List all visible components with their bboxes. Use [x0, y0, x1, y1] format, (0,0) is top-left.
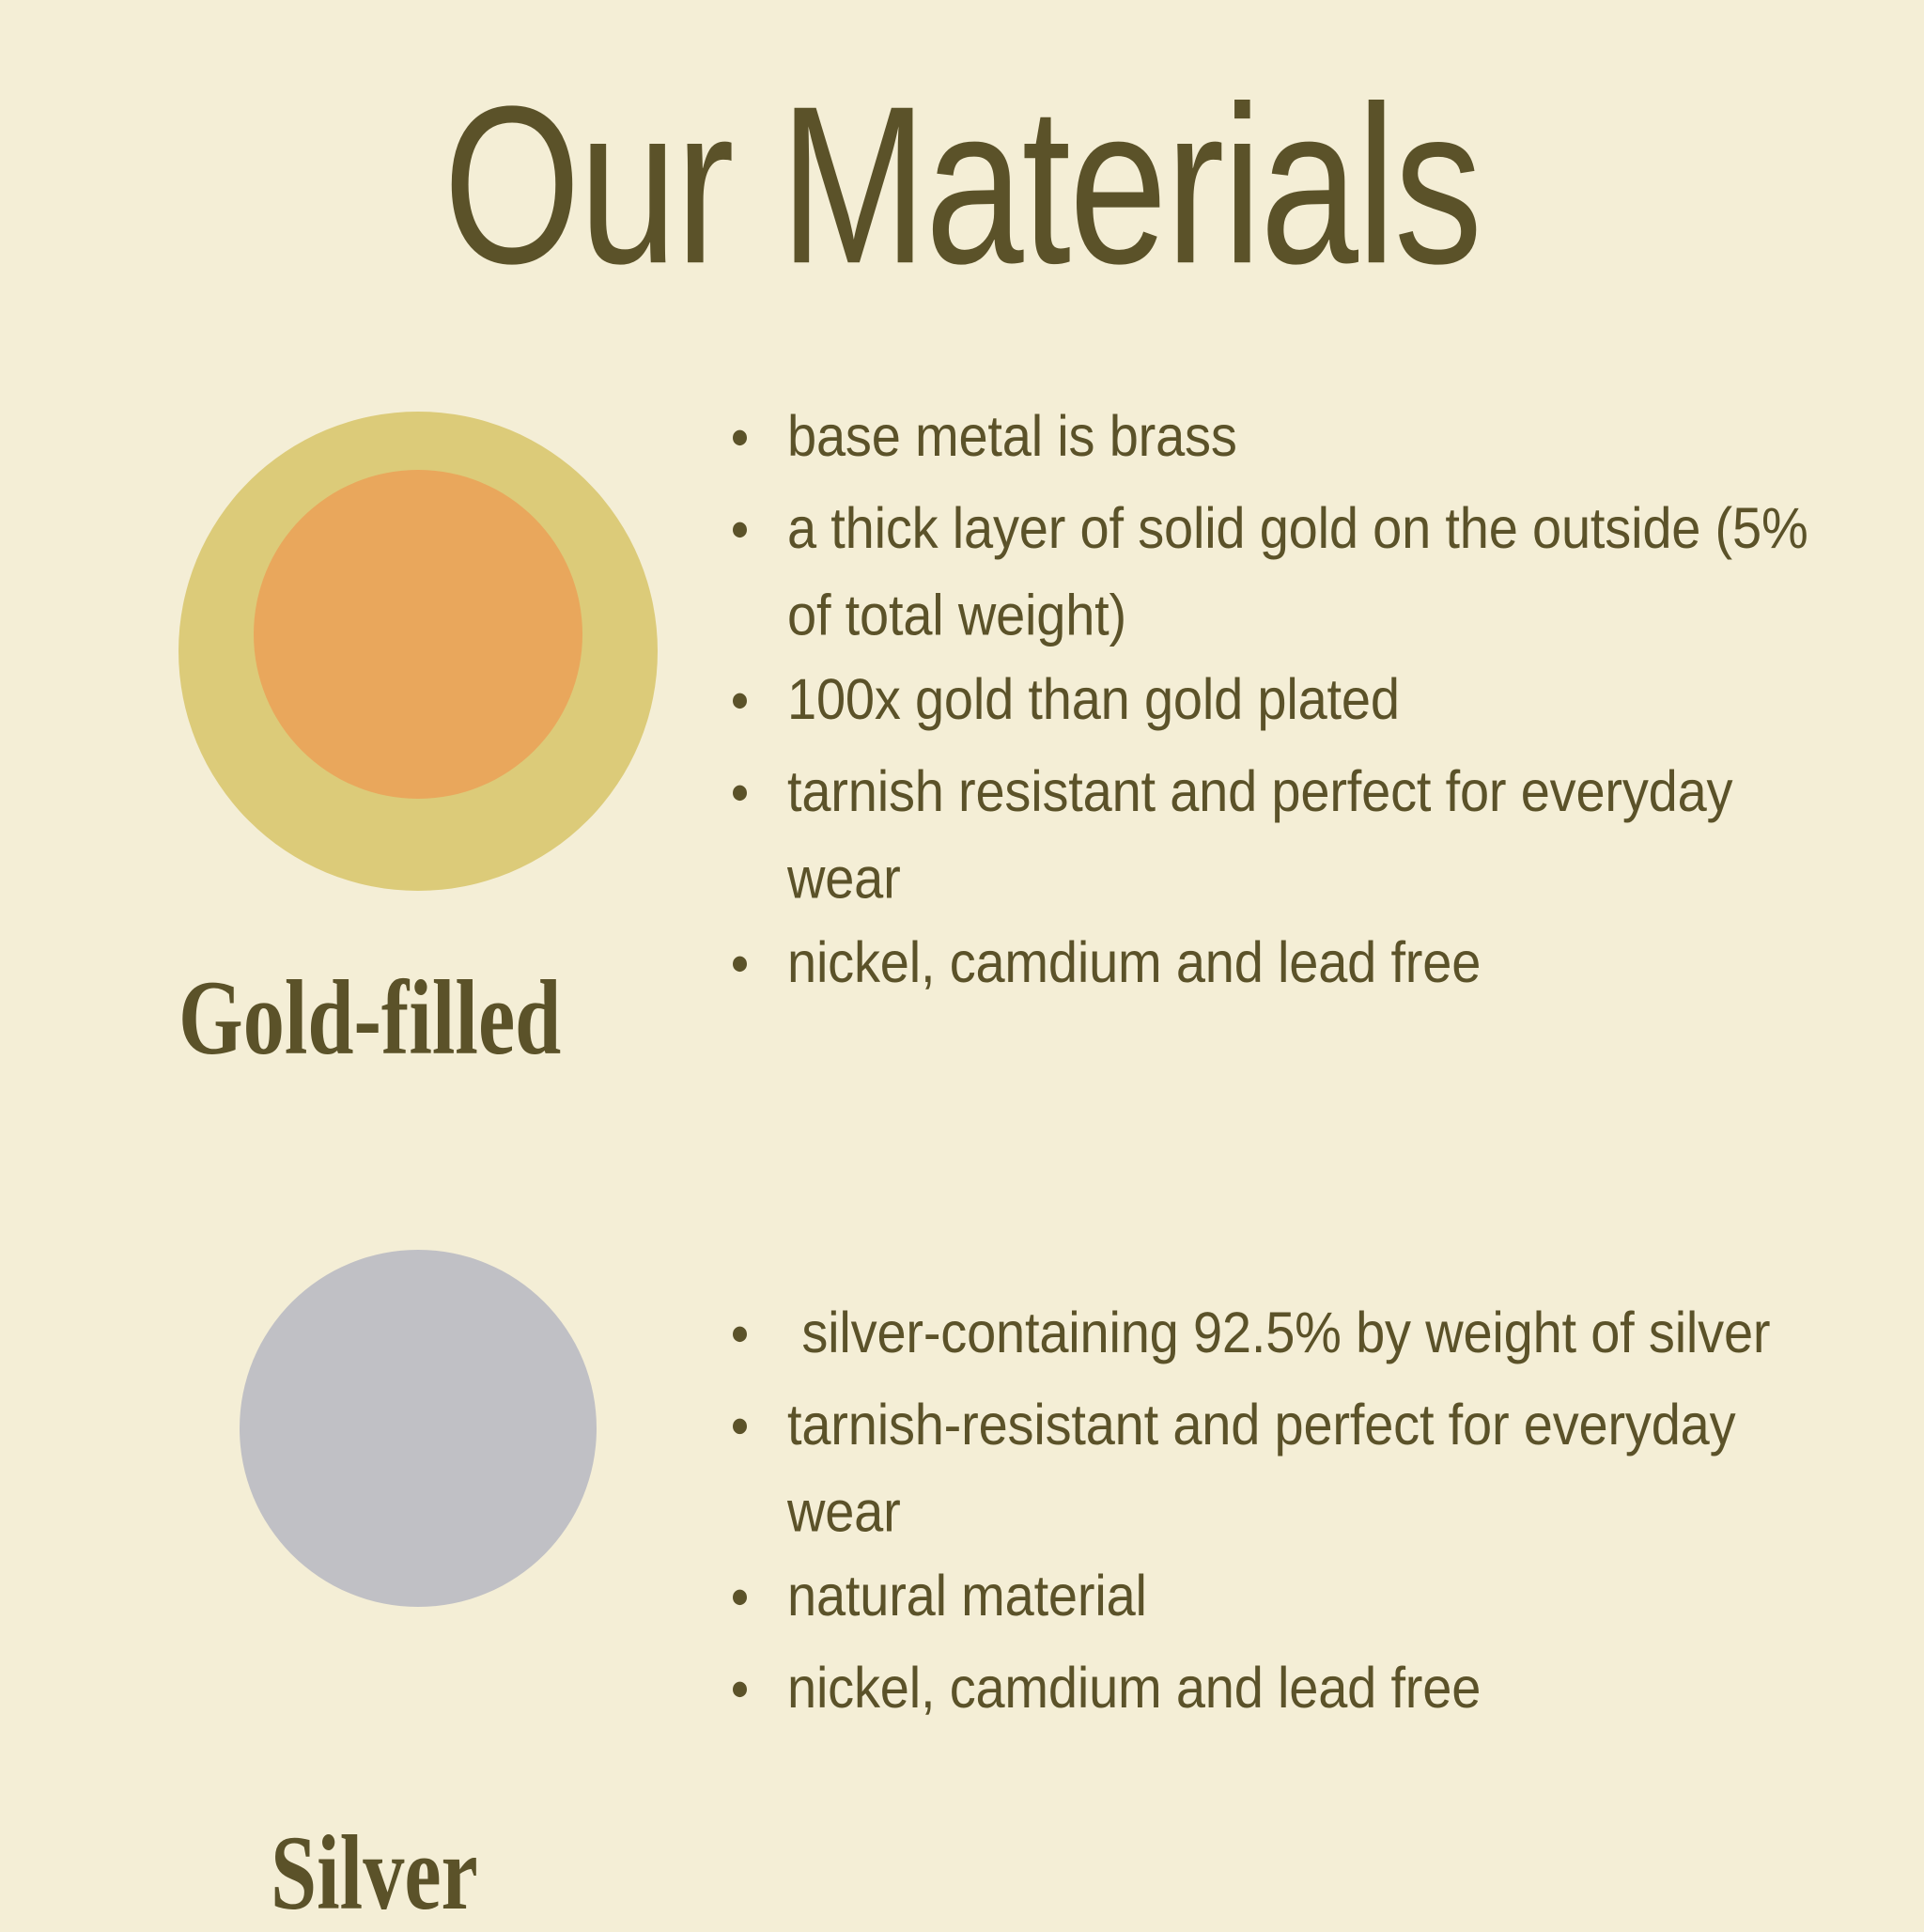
bullet-dot-icon	[733, 693, 747, 709]
list-item: base metal is brass	[787, 393, 1849, 479]
bullet-dot-icon	[733, 1327, 747, 1343]
list-item-text: nickel, camdium and lead free	[787, 919, 1849, 1005]
list-item-text: tarnish-resistant and perfect for everyd…	[787, 1381, 1849, 1555]
list-item: tarnish-resistant and perfect for everyd…	[787, 1381, 1849, 1555]
bullet-dot-icon	[733, 430, 747, 446]
list-item-text: 100x gold than gold plated	[787, 656, 1849, 742]
list-item: silver-containing 92.5% by weight of sil…	[787, 1289, 1849, 1376]
list-item: nickel, camdium and lead free	[787, 1644, 1849, 1731]
list-item: natural material	[787, 1552, 1849, 1639]
gold-inner-core-shape	[254, 470, 582, 799]
list-item-text: nickel, camdium and lead free	[787, 1644, 1849, 1731]
bullet-dot-icon	[733, 957, 747, 973]
list-item-text: base metal is brass	[787, 393, 1849, 479]
gold-filled-label: Gold-filled	[178, 964, 561, 1070]
silver-bullet-list: silver-containing 92.5% by weight of sil…	[787, 1289, 1849, 1737]
bullet-dot-icon	[733, 1590, 747, 1606]
bullet-dot-icon	[733, 1682, 747, 1698]
list-item: a thick layer of solid gold on the outsi…	[787, 485, 1849, 659]
list-item: tarnish resistant and perfect for everyd…	[787, 748, 1849, 922]
list-item-text: natural material	[787, 1552, 1849, 1639]
silver-label: Silver	[271, 1819, 478, 1925]
silver-circle-shape	[240, 1250, 597, 1607]
list-item-text: silver-containing 92.5% by weight of sil…	[787, 1289, 1849, 1376]
list-item-text: a thick layer of solid gold on the outsi…	[787, 485, 1849, 659]
bullet-dot-icon	[733, 786, 747, 802]
list-item: nickel, camdium and lead free	[787, 919, 1849, 1005]
gold-filled-bullet-list: base metal is brass a thick layer of sol…	[787, 393, 1849, 1011]
list-item-text: tarnish resistant and perfect for everyd…	[787, 748, 1849, 922]
list-item: 100x gold than gold plated	[787, 656, 1849, 742]
bullet-dot-icon	[733, 522, 747, 538]
page-title: Our Materials	[39, 73, 1885, 298]
bullet-dot-icon	[733, 1419, 747, 1435]
materials-infographic: Our Materials Gold-filled base metal is …	[0, 0, 1924, 1924]
